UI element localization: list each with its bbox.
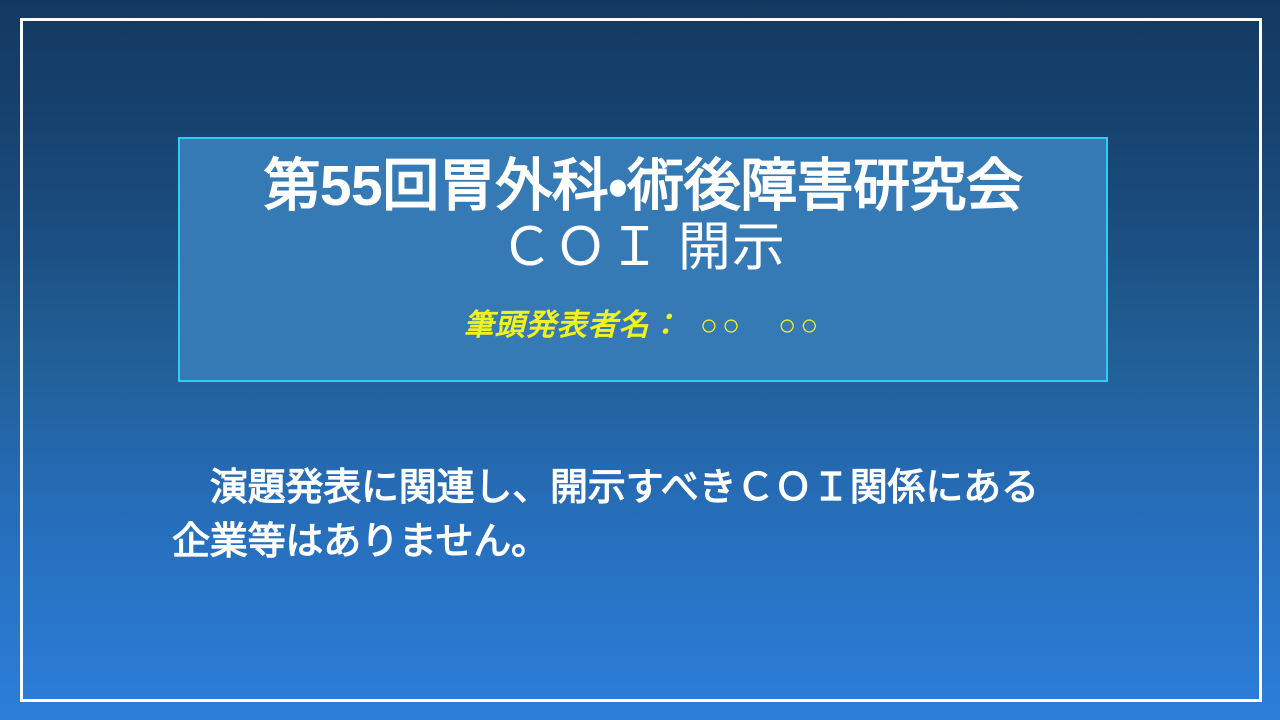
coi-statement: 演題発表に関連し、開示すべきＣＯＩ関係にある 企業等はありません。 [172,462,1172,570]
presenter-name-label: 筆頭発表者名： [464,309,681,342]
presenter-name-row: 筆頭発表者名： ○○ ○○ [464,300,823,344]
coi-statement-line-1: 演題発表に関連し、開示すべきＣＯＩ関係にある [172,462,1172,516]
slide-title-line-1: 第55回胃外科・術後障害研究会 [263,155,1022,219]
slide-title-line-2: ＣＯＩ 開示 [500,217,786,278]
title-panel: 第55回胃外科・術後障害研究会 ＣＯＩ 開示 筆頭発表者名： ○○ ○○ [178,137,1108,382]
coi-statement-line-2: 企業等はありません。 [172,516,1172,570]
slide-canvas: 第55回胃外科・術後障害研究会 ＣＯＩ 開示 筆頭発表者名： ○○ ○○ 演題発… [0,0,1280,720]
presenter-name-value: ○○ ○○ [700,309,822,342]
